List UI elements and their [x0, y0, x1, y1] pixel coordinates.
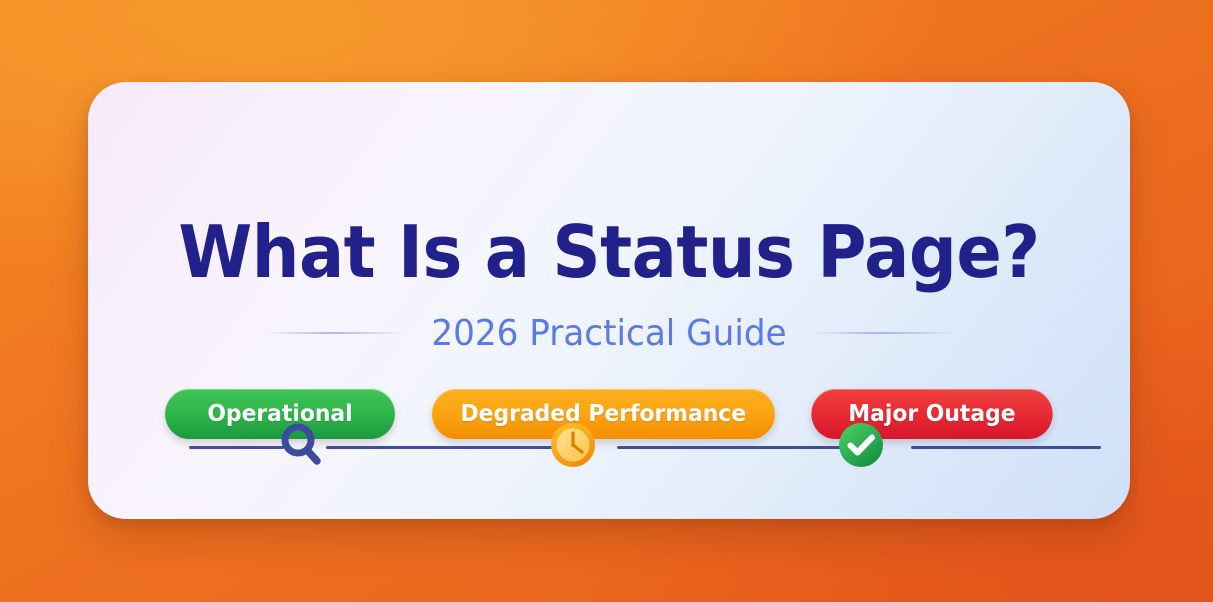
- check-circle-icon: [835, 419, 887, 476]
- timeline-track-segment: [911, 446, 1101, 449]
- timeline-track-segment: [189, 446, 284, 449]
- magnifying-glass-icon: [275, 419, 327, 476]
- subtitle-rule-left: [266, 332, 404, 334]
- timeline-track-segment: [617, 446, 865, 449]
- timeline-step-investigating[interactable]: [275, 421, 327, 473]
- timeline-step-monitoring[interactable]: [547, 421, 599, 473]
- subtitle-row: 2026 Practical Guide: [88, 310, 1130, 356]
- page-subtitle: 2026 Practical Guide: [431, 313, 786, 354]
- incident-timeline: [189, 396, 1014, 486]
- clock-icon: [547, 419, 599, 476]
- infographic-card: What Is a Status Page? 2026 Practical Gu…: [88, 82, 1130, 519]
- subtitle-rule-right: [814, 332, 952, 334]
- timeline-step-resolved[interactable]: [835, 421, 887, 473]
- page-title: What Is a Status Page?: [124, 216, 1093, 288]
